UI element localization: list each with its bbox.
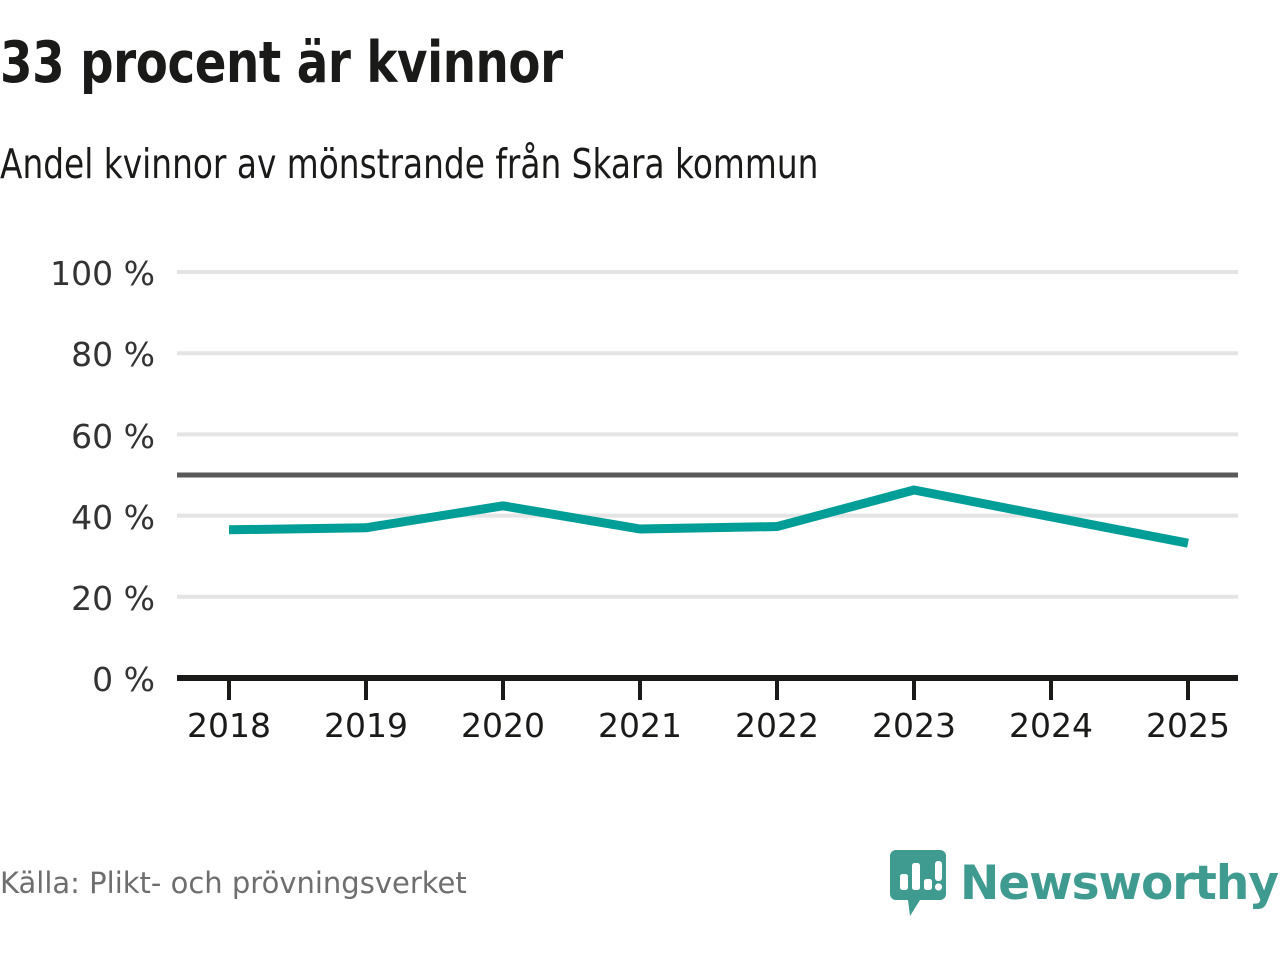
- gridlines: [177, 272, 1238, 597]
- x-tick-label-2018: 2018: [187, 706, 271, 745]
- x-tick-label-2024: 2024: [1009, 706, 1093, 745]
- y-tick-label-60: 60 %: [71, 417, 155, 456]
- chart-header: 33 procent är kvinnor Andel kvinnor av m…: [0, 0, 1280, 187]
- page-title: 33 procent är kvinnor: [0, 0, 1050, 94]
- brand-wordmark: Newsworthy: [960, 860, 1278, 907]
- x-tick-label-2025: 2025: [1146, 706, 1230, 745]
- x-tick-label-2021: 2021: [598, 706, 682, 745]
- x-axis-ticks: [229, 678, 1188, 700]
- x-tick-label-2019: 2019: [324, 706, 408, 745]
- y-tick-label-80: 80 %: [71, 335, 155, 374]
- chart-subtitle: Andel kvinnor av mönstrande från Skara k…: [0, 94, 1024, 187]
- source-note: Källa: Plikt- och prövningsverket: [0, 866, 467, 900]
- newsworthy-bars-bubble-icon: [890, 850, 946, 916]
- x-tick-label-2020: 2020: [461, 706, 545, 745]
- line-chart-svg: 100 % 80 % 60 % 40 % 20 % 0 % 2018 2019 …: [0, 248, 1280, 748]
- y-tick-label-40: 40 %: [71, 498, 155, 537]
- x-axis-labels: 2018 2019 2020 2021 2022 2023 2024 2025: [187, 706, 1230, 745]
- chart-plot-area: 100 % 80 % 60 % 40 % 20 % 0 % 2018 2019 …: [0, 248, 1280, 748]
- x-tick-label-2023: 2023: [872, 706, 956, 745]
- y-tick-label-100: 100 %: [50, 254, 155, 293]
- y-tick-label-0: 0 %: [92, 660, 155, 699]
- chart-footer: Källa: Plikt- och prövningsverket Newswo…: [0, 840, 1280, 960]
- newsworthy-logo[interactable]: Newsworthy: [890, 850, 1278, 916]
- chart-page: 33 procent är kvinnor Andel kvinnor av m…: [0, 0, 1280, 960]
- y-tick-label-20: 20 %: [71, 579, 155, 618]
- x-tick-label-2022: 2022: [735, 706, 819, 745]
- y-axis-labels: 100 % 80 % 60 % 40 % 20 % 0 %: [50, 254, 155, 699]
